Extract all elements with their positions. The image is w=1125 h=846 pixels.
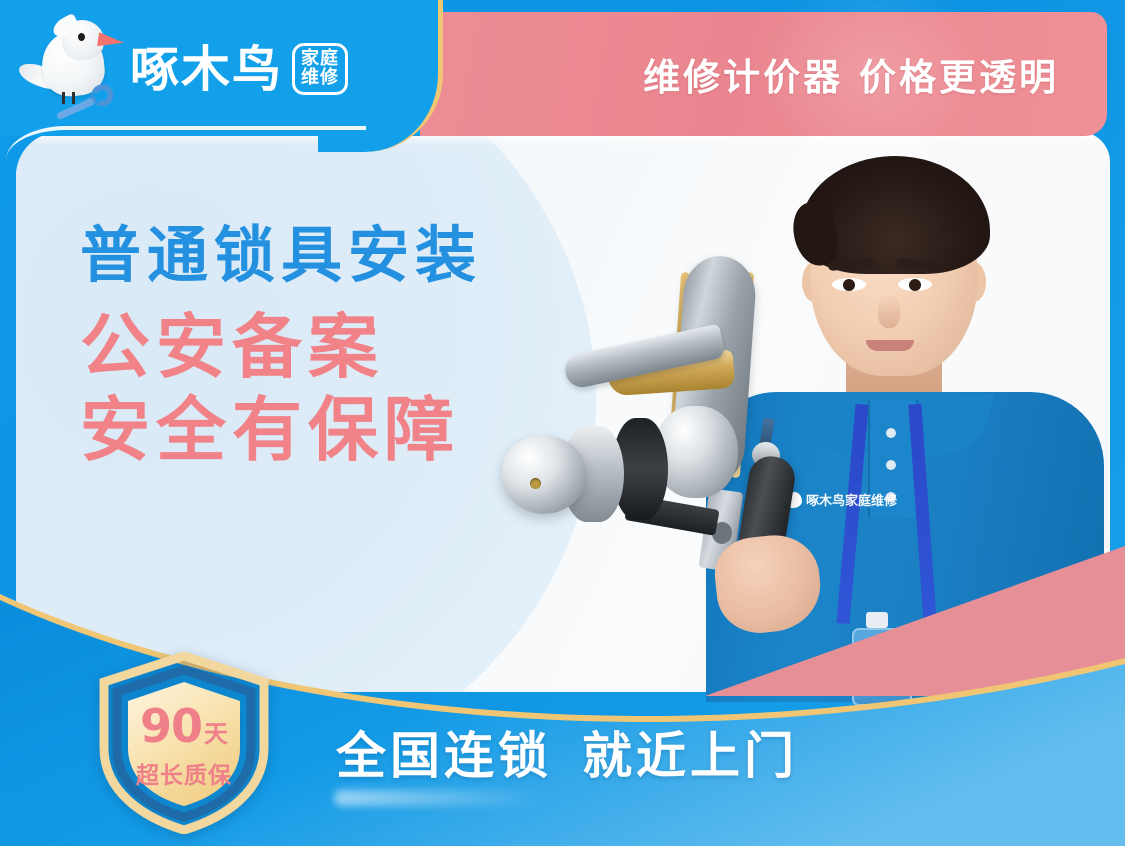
headline-block: 普通锁具安装 公安备案 安全有保障 <box>80 222 482 472</box>
pupil-left <box>843 279 855 291</box>
warranty-caption: 超长质保 <box>136 756 232 790</box>
uniform-button-1 <box>886 428 896 438</box>
warranty-shield-badge: 90 天 超长质保 <box>96 652 272 834</box>
shield-text-block: 90 天 超长质保 <box>96 652 272 834</box>
woodpecker-icon <box>18 14 126 124</box>
ad-banner: 维修计价器 价格更透明 啄木鸟 家庭 维修 <box>0 0 1125 846</box>
slogan-part1: 全国连锁 <box>336 727 552 785</box>
warranty-number: 90 <box>140 703 202 749</box>
brand-name-text: 啄木鸟 <box>130 45 283 94</box>
slogan-underglow <box>334 790 544 806</box>
uniform-button-2 <box>886 460 896 470</box>
top-banner-text: 维修计价器 价格更透明 <box>643 47 1059 101</box>
bird-eye-shape <box>78 33 85 41</box>
technician-mouth <box>866 340 914 351</box>
top-promo-banner: 维修计价器 价格更透明 <box>350 12 1107 136</box>
technician-nose <box>878 294 900 328</box>
logo-wordmark: 啄木鸟 家庭 维修 <box>130 43 348 95</box>
headline-title: 普通锁具安装 <box>80 222 482 290</box>
brand-logo[interactable]: 啄木鸟 家庭 维修 <box>18 10 348 128</box>
headline-sub-line2: 安全有保障 <box>80 389 482 472</box>
keyhole-shape <box>530 478 541 489</box>
brand-badge-line2: 维修 <box>301 69 339 88</box>
technician-eye-right <box>898 278 932 291</box>
pupil-right <box>909 279 921 291</box>
slogan-part2: 就近上门 <box>582 727 798 785</box>
shield-duration: 90 天 <box>140 703 228 749</box>
door-knob-lock-icon <box>502 436 586 514</box>
warranty-unit: 天 <box>204 722 228 746</box>
bottom-slogan-text: 全国连锁就近上门 <box>336 716 798 788</box>
product-illustration <box>480 250 840 590</box>
headline-sub-line1: 公安备案 <box>80 306 482 389</box>
brand-sub-badge: 家庭 维修 <box>292 43 348 95</box>
